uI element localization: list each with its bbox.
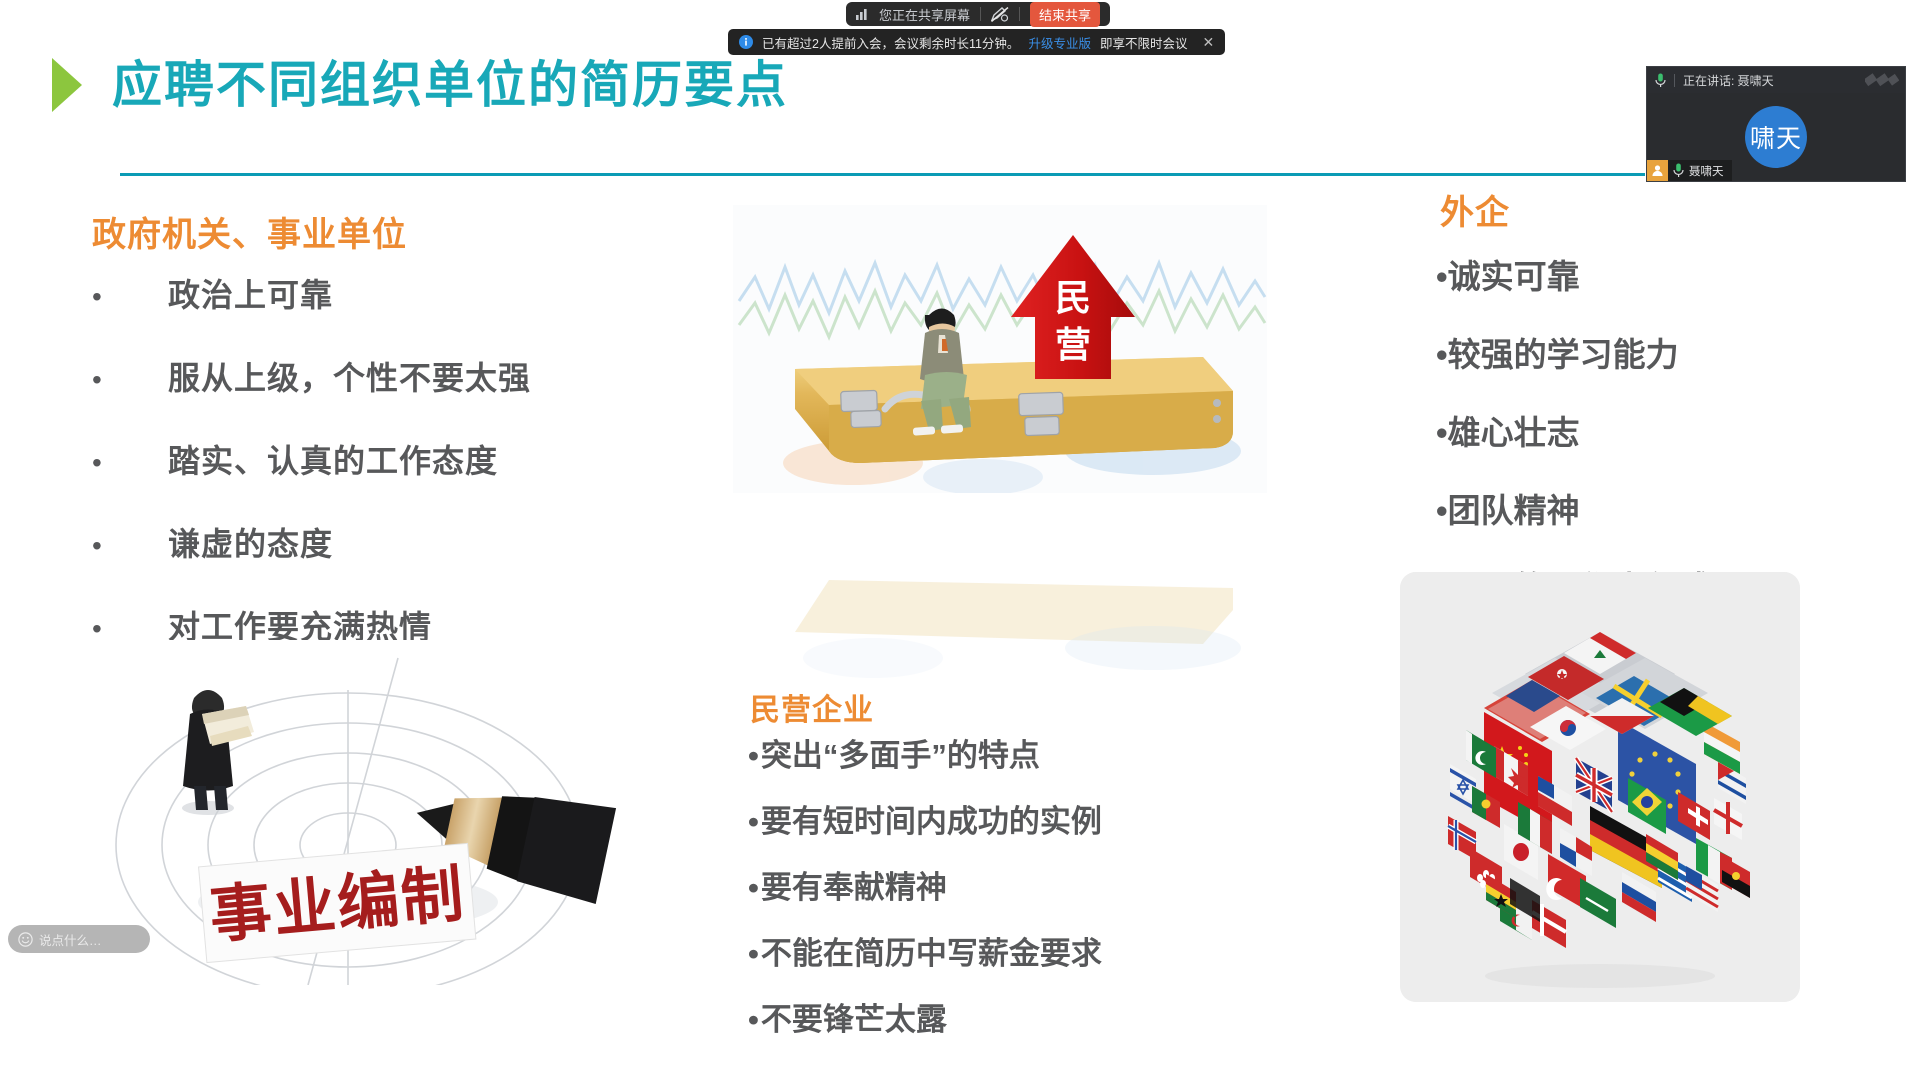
list-item-label: 谦虚的态度 [168,519,333,565]
list-item: •不要锋芒太露 [748,994,1268,1039]
title-divider [120,173,1645,176]
image-caption-label: 民 [1055,277,1091,318]
bullet-marker: • [748,936,759,971]
bullet-marker: • [748,1002,759,1037]
bullet-marker: • [92,283,168,311]
list-item-label: 诚实可靠 [1448,258,1580,295]
list-item-label: 团队精神 [1448,492,1580,529]
video-tile-body: 啸天 聂啸天 [1647,93,1905,181]
bullet-marker: • [1436,492,1448,529]
divider [1019,7,1020,21]
bullet-list-government: • 政治上可靠 • 服从上级，个性不要太强 • 踏实、认真的工作态度 • 谦虚的… [92,270,712,685]
list-item-label: 要有短时间内成功的实例 [761,804,1102,839]
bullet-marker: • [748,804,759,839]
section-heading-government: 政府机关、事业单位 [92,207,407,256]
notification-text: 已有超过2人提前入会，会议剩余时长11分钟。 [762,33,1019,52]
list-item: •要有奉献精神 [748,862,1268,907]
list-item: •团队精神 [1436,484,1856,532]
close-icon[interactable]: ✕ [1202,35,1214,49]
screen: 应聘不同组织单位的简历要点 政府机关、事业单位 • 政治上可靠 • 服从上级，个… [0,0,1920,1080]
share-status-label: 您正在共享屏幕 [879,5,970,24]
bullet-marker: • [748,870,759,905]
participant-name: 聂啸天 [1689,163,1724,179]
list-item: • 谦虚的态度 [92,519,712,565]
meeting-notification-bar: 已有超过2人提前入会，会议剩余时长11分钟。 升级专业版 即享不限时会议 ✕ [728,29,1225,55]
list-item: • 踏实、认真的工作态度 [92,436,712,482]
list-item: •突出“多面手”的特点 [748,730,1268,775]
private-enterprise-artwork: 民 营 [733,205,1267,493]
bullet-marker: • [1436,258,1448,295]
image-world-flags-cube [1400,572,1800,1002]
list-item-label: 不能在简历中写薪金要求 [761,936,1102,971]
chat-input-placeholder: 说点什么… [39,930,102,949]
video-tile-footer: 聂啸天 [1647,160,1732,181]
image-private-enterprise: 民 营 [733,205,1267,493]
list-item: • 政治上可靠 [92,270,712,316]
section-heading-foreign: 外企 [1440,185,1510,234]
list-item-label: 雄心壮志 [1448,414,1580,451]
bullet-marker: • [1436,336,1448,373]
list-item-label: 不要锋芒太露 [761,1002,947,1037]
bullet-list-private: •突出“多面手”的特点 •要有短时间内成功的实例 •要有奉献精神 •不能在简历中… [748,730,1268,1060]
bullet-marker: • [92,615,168,643]
list-item: •较强的学习能力 [1436,328,1856,376]
bullet-marker: • [1436,414,1448,451]
bullet-marker: • [92,532,168,560]
signal-bars-icon [856,8,869,20]
svg-text:营: 营 [1055,324,1091,365]
upgrade-link[interactable]: 升级专业版 [1028,33,1091,52]
slide-title-row: 应聘不同组织单位的简历要点 [52,58,788,112]
section-heading-private: 民营企业 [750,685,874,729]
video-tile-header: 正在讲话: 聂啸天 [1647,67,1905,93]
screen-share-status-bar: 您正在共享屏幕 结束共享 [846,2,1110,26]
active-speaker-label: 正在讲话: 聂啸天 [1683,72,1774,89]
video-tile[interactable]: 正在讲话: 聂啸天 啸天 [1646,66,1906,182]
page-title: 应聘不同组织单位的简历要点 [112,60,788,110]
participant-name-box: 聂啸天 [1668,160,1732,181]
drag-grip-icon[interactable] [1865,72,1899,88]
end-share-button[interactable]: 结束共享 [1030,2,1100,27]
list-item: • 服从上级，个性不要太强 [92,353,712,399]
host-person-icon [1647,160,1668,181]
bullet-marker: • [92,449,168,477]
public-institution-artwork: 事业编制 [98,640,618,985]
list-item-label: 政治上可靠 [168,270,333,316]
world-flags-cube-artwork [1400,572,1800,1002]
bullet-marker: • [748,738,759,773]
info-circle-icon [739,35,753,49]
person-glyph-icon [1651,164,1664,177]
smiley-icon[interactable] [18,932,33,947]
list-item-label: 服从上级，个性不要太强 [168,353,531,399]
list-item-label: 踏实、认真的工作态度 [168,436,498,482]
image-public-institution: 事业编制 [98,640,618,985]
bullet-marker: • [92,366,168,394]
reflection-artwork [733,578,1267,688]
list-item-label: 要有奉献精神 [761,870,947,905]
triangle-play-icon [52,58,82,112]
chat-input[interactable]: 说点什么… [8,925,150,953]
divider [1674,74,1675,87]
microphone-icon[interactable] [1655,73,1666,88]
list-item: •雄心壮志 [1436,406,1856,454]
list-item-label: 突出“多面手”的特点 [761,738,1040,773]
divider [980,7,981,21]
list-item-label: 较强的学习能力 [1448,336,1679,373]
notification-text-suffix: 即享不限时会议 [1100,33,1188,52]
annotation-disabled-icon[interactable] [991,7,1009,22]
microphone-icon [1673,163,1684,178]
list-item: •不能在简历中写薪金要求 [748,928,1268,973]
list-item: •诚实可靠 [1436,250,1856,298]
image-private-enterprise-reflection [733,578,1267,688]
list-item: •要有短时间内成功的实例 [748,796,1268,841]
presentation-slide: 应聘不同组织单位的简历要点 政府机关、事业单位 • 政治上可靠 • 服从上级，个… [0,0,1920,1080]
avatar: 啸天 [1745,106,1807,168]
